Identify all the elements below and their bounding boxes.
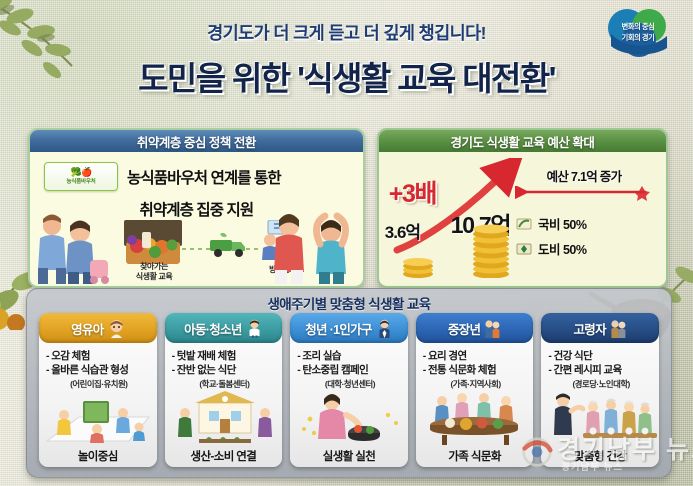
voucher-badge-label: 농식품바우처 [66, 177, 95, 185]
coin-stack-large-icon [471, 216, 511, 278]
caption-outreach-line-2: 식생활 교육 [112, 272, 196, 282]
budget-underline-arrow [514, 186, 654, 202]
card-title: 중장년 [448, 319, 480, 338]
funding-share-label: 도비 50% [538, 239, 587, 258]
card-bullet: - 잔반 없는 식단 [172, 363, 278, 377]
card-header: 영유아 [39, 313, 157, 343]
budget-value-before: 3.6억 [385, 218, 420, 243]
card-title: 영유아 [71, 319, 103, 338]
card-header: 고령자 [541, 313, 659, 343]
delivery-truck-icon [208, 232, 248, 258]
card-bullet: - 전통 식문화 체험 [423, 363, 529, 377]
lifecycle-card-youth-single[interactable]: 청년 ·1인가구 - 조리 실습 - 탄소중립 캠페인 (대학·청년센터) [290, 313, 408, 467]
funding-share-label: 국비 50% [538, 214, 587, 233]
funding-share-row: 국비 50% [516, 214, 652, 233]
card-body: - 조리 실습 - 탄소중립 캠페인 (대학·청년센터) [290, 343, 408, 467]
subheadline: 경기도가 더 크게 듣고 더 깊게 챙깁니다! [0, 20, 693, 45]
senior-meal-icon [541, 389, 659, 445]
card-bullet: - 올바른 식습관 형성 [46, 363, 152, 377]
panel-vulnerable-policy: 취약계층 중심 정책 전환 🥦🍎 농식품바우처 농식품바우처 연계를 통한 취약… [28, 128, 365, 288]
elderly-couple-icon [610, 319, 627, 338]
national-funds-icon [516, 216, 532, 232]
food-box-icon [122, 218, 184, 266]
voucher-badge: 🥦🍎 농식품바우처 [44, 162, 118, 191]
emblem-line-1: 변화의 중심 [622, 22, 655, 32]
card-bullet: - 조리 실습 [297, 349, 403, 363]
panel-budget-expansion: 경기도 식생활 교육 예산 확대 +3배 3.6억 10.7억 [377, 128, 668, 288]
celebrating-people-icon [263, 206, 359, 284]
panel-left-line-1: 농식품바우처 연계를 통한 [127, 166, 281, 188]
card-caption: 가족 식문화 [416, 448, 534, 464]
lifecycle-section: 생애주기별 맞춤형 식생활 교육 영유아 - 오감 체험 [26, 288, 672, 478]
emblem-line-2: 기회의 경기 [622, 33, 655, 43]
voucher-headline-row: 🥦🍎 농식품바우처 농식품바우처 연계를 통한 [44, 162, 353, 191]
card-header: 중장년 [416, 313, 534, 343]
card-bullet: - 간편 레시피 교육 [548, 363, 654, 377]
panel-right-body: +3배 3.6억 10.7억 [379, 152, 666, 286]
card-body: - 요리 경연 - 전통 식문화 체험 (가족·지역사회) [416, 343, 534, 467]
cooking-class-icon [290, 389, 408, 445]
caption-outreach-education: 찾아가는 식생활 교육 [112, 262, 196, 282]
province-funds-icon [516, 241, 532, 257]
card-caption: 맞춤형 건강 [541, 448, 659, 464]
card-bullet: - 요리 경연 [423, 349, 529, 363]
card-caption: 실생활 실천 [290, 448, 408, 464]
card-body: - 오감 체험 - 올바른 식습관 형성 (어린이집·유치원) [39, 343, 157, 467]
coin-stack-small-icon [401, 248, 435, 278]
card-title: 고령자 [573, 319, 605, 338]
funding-share-row: 도비 50% [516, 239, 652, 258]
family-table-icon [416, 389, 534, 445]
funding-share-list: 국비 50% 도비 50% [516, 214, 652, 264]
card-title: 청년 ·1인가구 [305, 319, 372, 338]
young-adult-icon [376, 319, 393, 338]
caption-outreach-line-1: 찾아가는 [112, 262, 196, 272]
card-bullet: - 오감 체험 [46, 349, 152, 363]
infographic-canvas: 변화의 중심 기회의 경기 경기도가 더 크게 듣고 더 깊게 챙깁니다! 도민… [0, 0, 693, 486]
card-title: 아동·청소년 [184, 319, 241, 338]
headline-block: 경기도가 더 크게 듣고 더 깊게 챙깁니다! 도민을 위한 '식생활 교육 대… [0, 20, 693, 100]
family-illustration-icon [32, 210, 110, 284]
toddler-icon [108, 319, 125, 338]
card-bullet: - 건강 식단 [548, 349, 654, 363]
budget-multiplier: +3배 [389, 174, 436, 210]
budget-increase-note: 예산 7.1억 증가 [510, 166, 658, 185]
student-icon [246, 319, 263, 338]
panel-right-title: 경기도 식생활 교육 예산 확대 [379, 130, 666, 152]
voucher-badge-icon: 🥦🍎 [71, 168, 91, 177]
card-header: 청년 ·1인가구 [290, 313, 408, 343]
panel-left-title: 취약계층 중심 정책 전환 [30, 130, 363, 152]
lifecycle-card-list: 영유아 - 오감 체험 - 올바른 식습관 형성 (어린이집·유치원) [39, 313, 659, 467]
card-bullet: - 텃밭 재배 체험 [172, 349, 278, 363]
card-bullet: - 탄소중립 캠페인 [297, 363, 403, 377]
card-caption: 놀이중심 [39, 448, 157, 464]
card-body: - 건강 식단 - 간편 레시피 교육 (경로당·노인대학) [541, 343, 659, 467]
panel-left-body: 🥦🍎 농식품바우처 농식품바우처 연계를 통한 취약계층 집중 지원 [30, 152, 363, 286]
lifecycle-section-title: 생애주기별 맞춤형 식생활 교육 [27, 293, 671, 313]
card-caption: 생산-소비 연결 [165, 448, 283, 464]
card-header: 아동·청소년 [165, 313, 283, 343]
lifecycle-card-middle-aged[interactable]: 중장년 - 요리 경연 - 전통 식문화 체험 (가족·지역사회) [416, 313, 534, 467]
lifecycle-card-infant[interactable]: 영유아 - 오감 체험 - 올바른 식습관 형성 (어린이집·유치원) [39, 313, 157, 467]
middle-aged-couple-icon [484, 319, 501, 338]
lifecycle-card-elderly[interactable]: 고령자 - 건강 식단 - 간편 레시피 교육 (경 [541, 313, 659, 467]
card-body: - 텃밭 재배 체험 - 잔반 없는 식단 (학교·돌봄센터) [165, 343, 283, 467]
kindergarten-play-icon [39, 389, 157, 445]
top-panels: 취약계층 중심 정책 전환 🥦🍎 농식품바우처 농식품바우처 연계를 통한 취약… [28, 128, 668, 288]
page-title: 도민을 위한 '식생활 교육 대전환' [0, 52, 693, 100]
school-garden-icon [165, 389, 283, 445]
lifecycle-card-child-youth[interactable]: 아동·청소년 - 텃밭 재배 체험 - 잔반 없는 식단 (학교·돌봄센터) [165, 313, 283, 467]
gyeonggi-brand-emblem: 변화의 중심 기회의 경기 [601, 6, 675, 58]
